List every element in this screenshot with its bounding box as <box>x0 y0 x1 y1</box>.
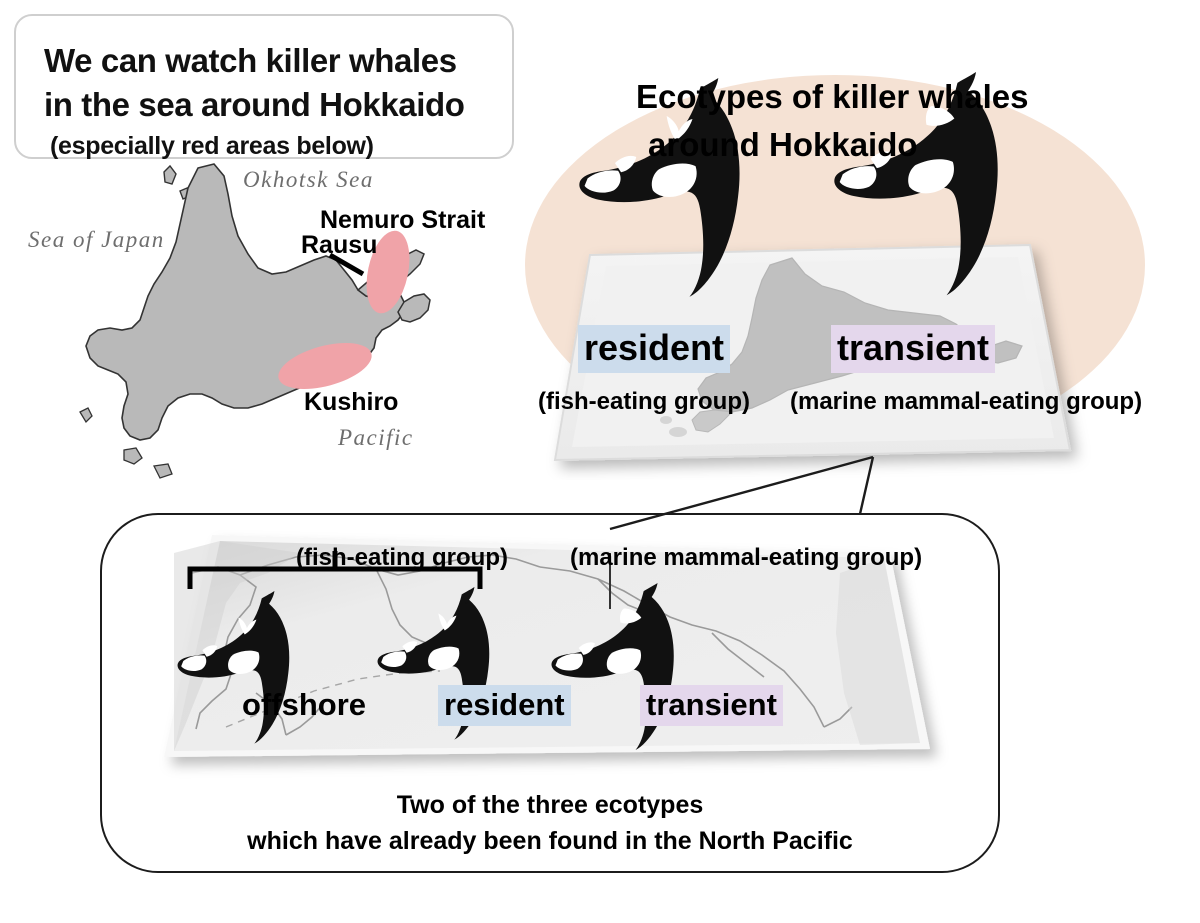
island-small-s1 <box>124 448 142 464</box>
ecotype-label-resident: resident <box>578 325 730 373</box>
pointer-label-mammal-eating: (marine mammal-eating group) <box>570 546 922 570</box>
kunashiri-island <box>398 294 430 322</box>
ecotypes-title-strong: Ecotypes <box>636 78 783 115</box>
place-label-kushiro: Kushiro <box>304 390 398 415</box>
bracket-label-fish-eating: (fish-eating group) <box>296 546 508 570</box>
infographic-canvas: Ecotypes of killer whales around Hokkaid… <box>0 0 1200 923</box>
ecotypes-title-line1: Ecotypes of killer whales <box>636 80 1029 113</box>
np-label-offshore: offshore <box>236 685 372 726</box>
sea-label-pacific: Pacific <box>338 425 414 451</box>
np-label-resident: resident <box>438 685 571 726</box>
ecotype-sub-transient: (marine mammal-eating group) <box>790 390 1142 414</box>
ecotypes-title-rest: of killer whales <box>783 78 1029 115</box>
ecotype-label-transient: transient <box>831 325 995 373</box>
intro-line-3: (especially red areas below) <box>50 134 374 159</box>
ecotypes-panel-graphics <box>470 60 1200 480</box>
place-label-rausu: Rausu <box>301 233 377 258</box>
np-label-transient: transient <box>640 685 783 726</box>
intro-line-2: in the sea around Hokkaido <box>44 88 465 121</box>
island-small-s2 <box>154 464 172 478</box>
sea-label-okhotsk-sea: Okhotsk Sea <box>243 167 374 193</box>
sea-label-sea-of-japan: Sea of Japan <box>28 227 165 253</box>
hokkaido-map-graphics <box>0 150 530 490</box>
intro-line-1: We can watch killer whales <box>44 44 457 77</box>
island-rebun <box>180 188 190 199</box>
intro-callout-box: We can watch killer whales in the sea ar… <box>14 14 514 159</box>
island-okushiri <box>80 408 92 422</box>
ecotype-sub-resident: (fish-eating group) <box>538 390 750 414</box>
north-pacific-panel-content: (fish-eating group) (marine mammal-eatin… <box>100 513 1000 873</box>
np-caption: Two of the three ecotypes which have alr… <box>100 787 1000 860</box>
hokkaido-map: Sea of Japan Okhotsk Sea Pacific Nemuro … <box>0 150 530 490</box>
np-caption-line1: Two of the three ecotypes <box>100 787 1000 823</box>
island-rishiri <box>164 166 176 184</box>
np-caption-line2: which have already been found in the Nor… <box>100 823 1000 859</box>
ecotypes-panel: Ecotypes of killer whales around Hokkaid… <box>470 60 1200 480</box>
ecotypes-title-line2: around Hokkaido <box>648 128 918 161</box>
place-label-nemuro-strait: Nemuro Strait <box>320 208 485 233</box>
